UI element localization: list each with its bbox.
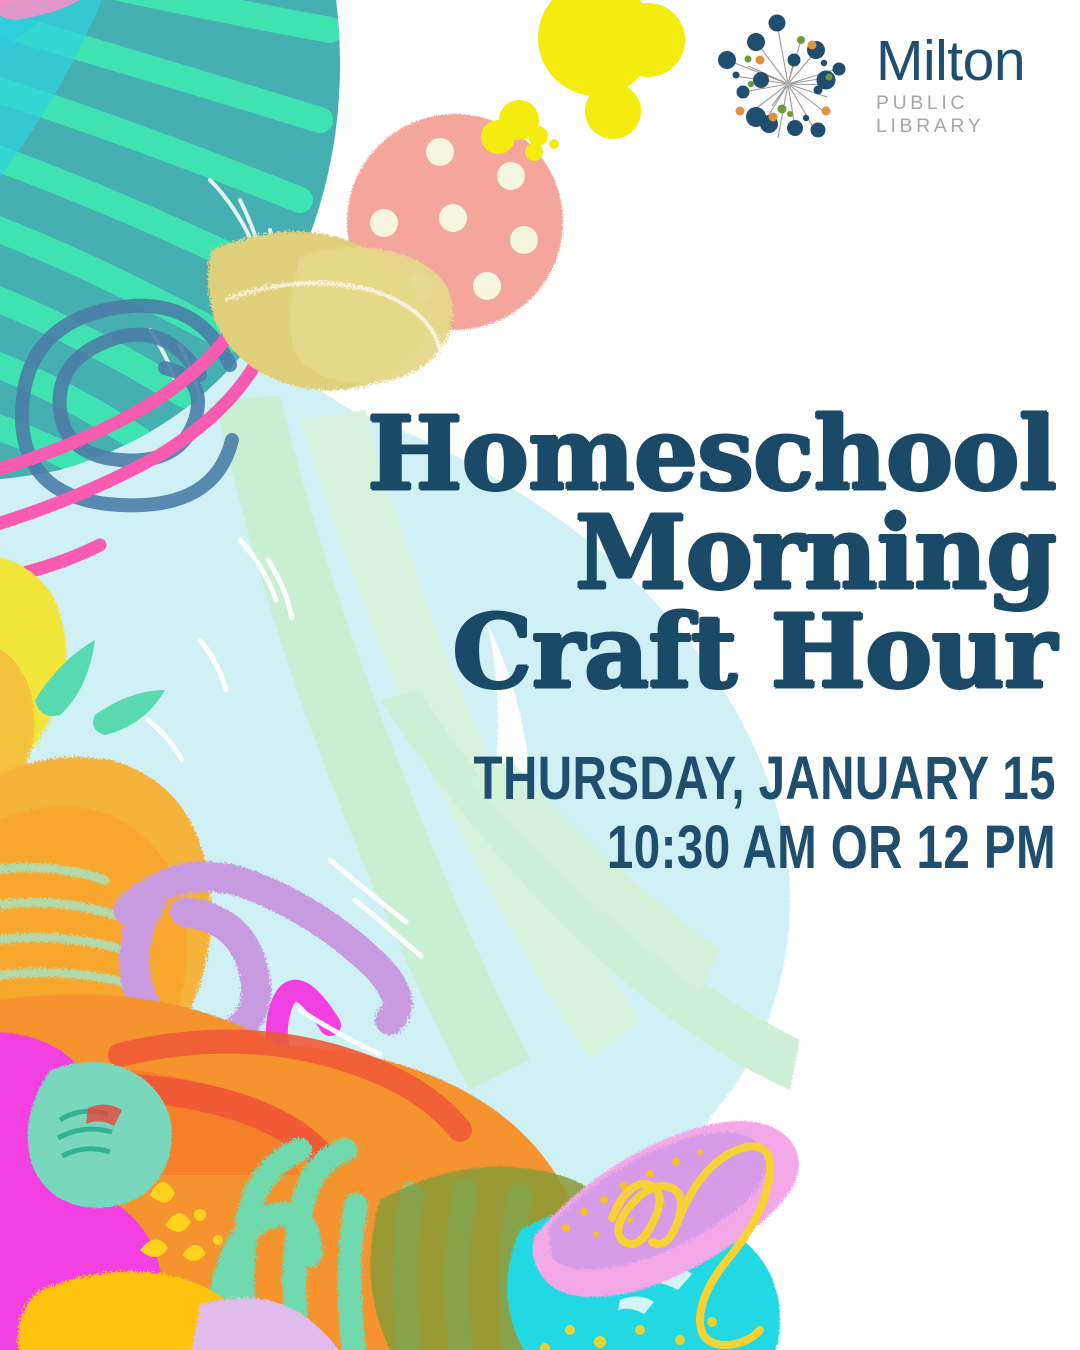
golden-bottom-blob [18, 1271, 256, 1350]
teal-leaf-shapes [0, 640, 200, 1101]
coral-polka-dot-circle [347, 114, 563, 330]
khaki-brush-stroke [208, 231, 453, 390]
page-title: Homeschool Morning Craft Hour [176, 405, 1056, 702]
logo-name: Milton [876, 34, 1066, 89]
title-line-3: Craft Hour [176, 603, 1056, 702]
yellow-circles [481, 0, 685, 161]
mint-striped-stroke [222, 1150, 520, 1350]
poster-canvas: Milton PUBLIC LIBRARY Homeschool Morning… [0, 0, 1080, 1350]
cream-dots [370, 138, 538, 302]
yellow-script-flourish [612, 1146, 770, 1345]
event-details: THURSDAY, JANUARY 15 10:30 AM OR 12 PM [176, 744, 1056, 882]
magenta-curve [277, 991, 330, 1100]
orange-body-stroke [0, 994, 590, 1350]
pink-corner-tip [0, 0, 86, 20]
mint-stripes-left [25, 1155, 110, 1255]
olive-leaf [370, 1167, 641, 1350]
starburst-network-icon [706, 14, 866, 154]
logo-subtitle: PUBLIC LIBRARY [876, 92, 1066, 138]
title-line-1: Homeschool [176, 405, 1056, 504]
event-date: THURSDAY, JANUARY 15 [370, 744, 1056, 813]
library-logo: Milton PUBLIC LIBRARY [706, 14, 1066, 154]
logo-wordmark: Milton PUBLIC LIBRARY [876, 30, 1066, 139]
pink-brush-stroke [533, 1121, 799, 1297]
event-text-block: Homeschool Morning Craft Hour THURSDAY, … [176, 405, 1056, 882]
cyan-blob [507, 1201, 780, 1350]
yellow-speckles [140, 1182, 223, 1301]
golden-textured-blob [0, 555, 66, 800]
lilac-bottom-patch [190, 1298, 341, 1350]
magenta-blob [0, 1032, 161, 1350]
event-time: 10:30 AM OR 12 PM [370, 813, 1056, 882]
seafoam-medallion [28, 1062, 172, 1208]
title-line-2: Morning [176, 504, 1056, 603]
lilac-loop-ribbon [128, 877, 397, 1043]
pink-lines-lower [0, 1060, 120, 1120]
